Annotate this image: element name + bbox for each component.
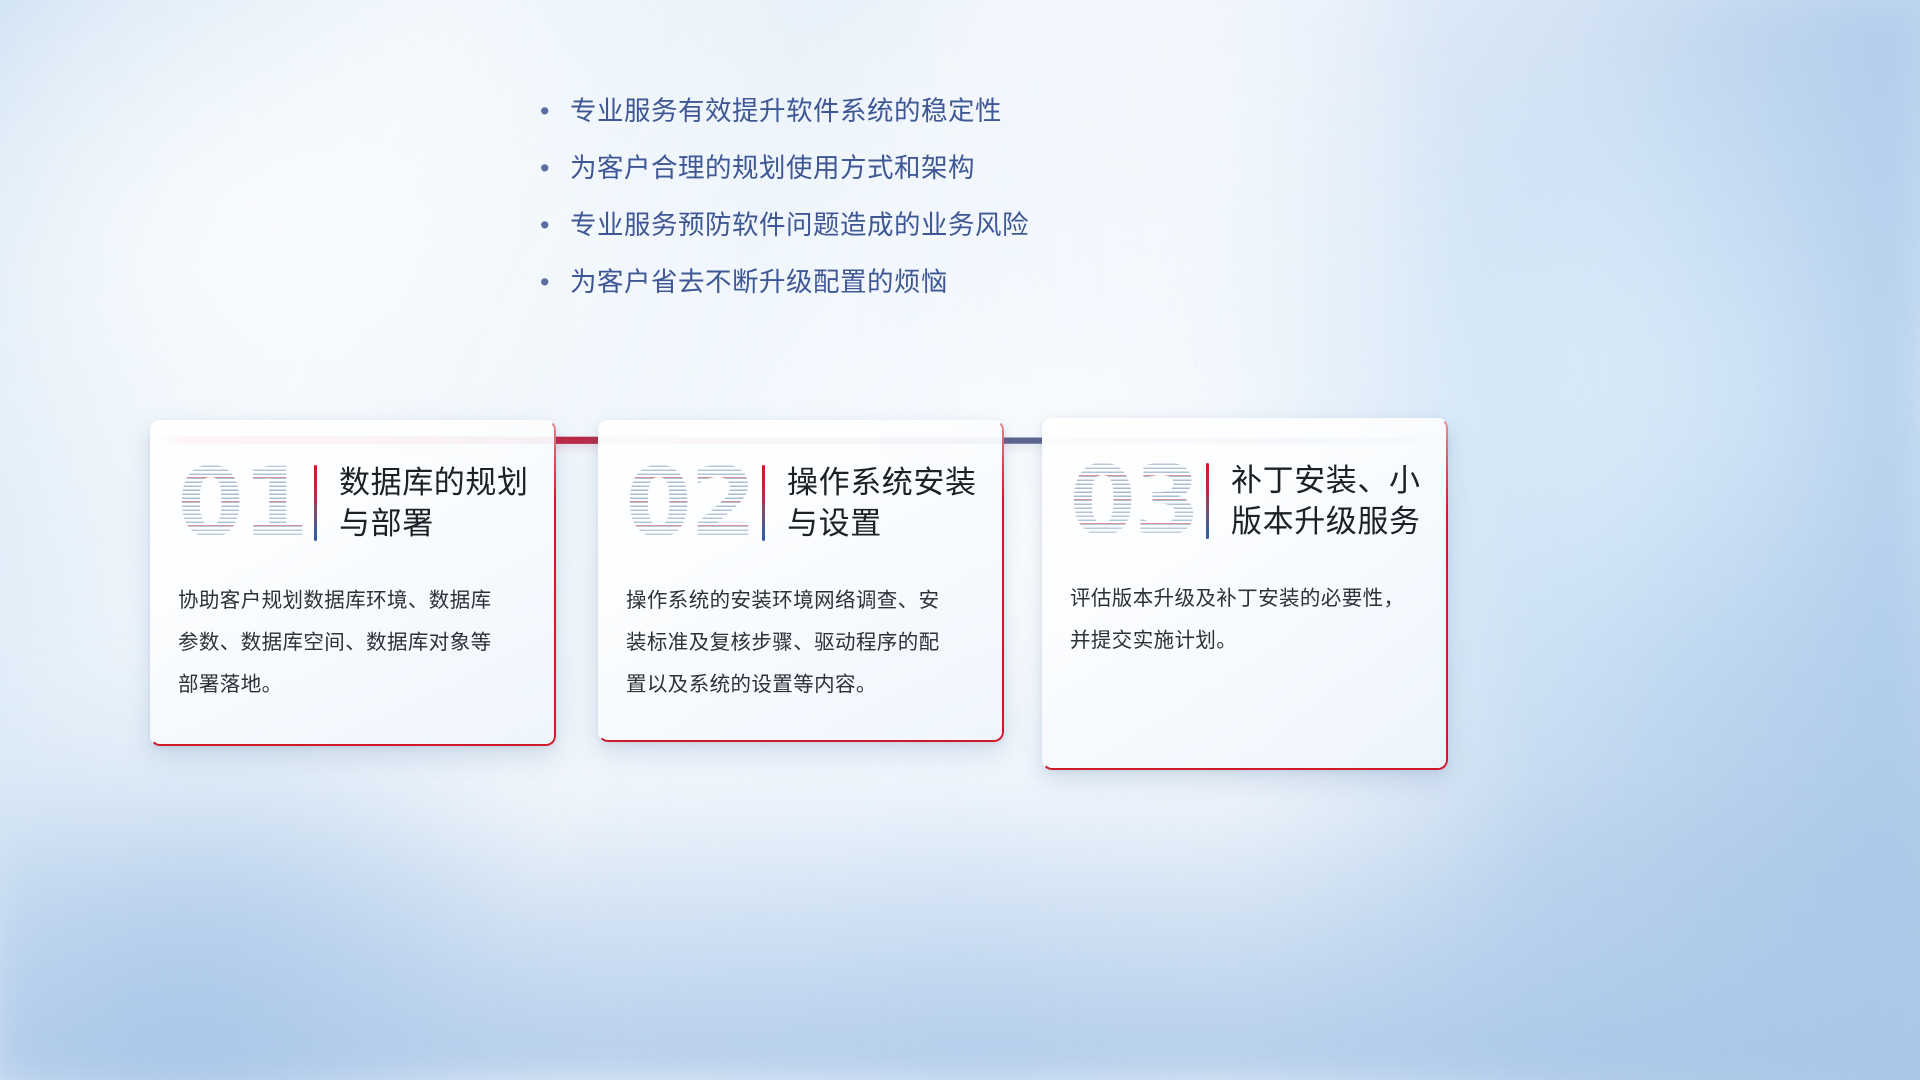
service-card-03[interactable]: 03 03 补丁安装、小 版本升级服务 评估版本升级及补丁安装的必要性， 并提交… [1042,418,1448,770]
card-description: 操作系统的安装环境网络调查、安 装标准及复核步骤、驱动程序的配 置以及系统的设置… [626,580,982,706]
card-description: 评估版本升级及补丁安装的必要性， 并提交实施计划。 [1070,578,1426,662]
card-title-line-2: 与部署 [339,503,542,544]
card-description-line-2: 参数、数据库空间、数据库对象等 [178,622,534,664]
card-title: 补丁安装、小 版本升级服务 [1231,460,1448,542]
card-title-divider-bar [314,465,317,541]
card-title-line-1: 补丁安装、小 [1231,460,1434,501]
card-title-divider-bar [1206,463,1209,539]
card-title-line-1: 操作系统安装 [787,462,990,503]
card-description-line-3: 置以及系统的设置等内容。 [626,664,982,706]
card-description-line-1: 协助客户规划数据库环境、数据库 [178,580,534,622]
card-description-line-2: 并提交实施计划。 [1070,620,1426,662]
card-description-line-1: 操作系统的安装环境网络调查、安 [626,580,982,622]
card-title-line-2: 版本升级服务 [1231,501,1434,542]
card-number-glyph-tint: 03 [1068,449,1200,553]
service-card-02[interactable]: 02 02 操作系统安装 与设置 操作系统的安装环境网络调查、安 装标准及复核步… [598,420,1004,742]
card-number-glyph-tint: 01 [176,451,308,555]
card-number-watermark: 03 03 [1068,449,1200,553]
card-description-line-2: 装标准及复核步骤、驱动程序的配 [626,622,982,664]
card-number-glyph-tint: 02 [624,451,756,555]
card-description-line-1: 评估版本升级及补丁安装的必要性， [1070,578,1426,620]
card-description: 协助客户规划数据库环境、数据库 参数、数据库空间、数据库对象等 部署落地。 [178,580,534,706]
card-title-divider-bar [762,465,765,541]
card-title-line-1: 数据库的规划 [339,462,542,503]
card-number-watermark: 02 02 [624,451,756,555]
card-header: 03 03 补丁安装、小 版本升级服务 [1042,442,1448,560]
card-header: 01 01 数据库的规划 与部署 [150,444,556,562]
card-header: 02 02 操作系统安装 与设置 [598,444,1004,562]
card-title-line-2: 与设置 [787,503,990,544]
service-card-list: 01 01 数据库的规划 与部署 协助客户规划数据库环境、数据库 参数、数据库空… [0,0,1920,1080]
card-title: 数据库的规划 与部署 [339,462,556,544]
card-number-watermark: 01 01 [176,451,308,555]
card-description-line-3: 部署落地。 [178,664,534,706]
card-title: 操作系统安装 与设置 [787,462,1004,544]
service-card-01[interactable]: 01 01 数据库的规划 与部署 协助客户规划数据库环境、数据库 参数、数据库空… [150,420,556,746]
